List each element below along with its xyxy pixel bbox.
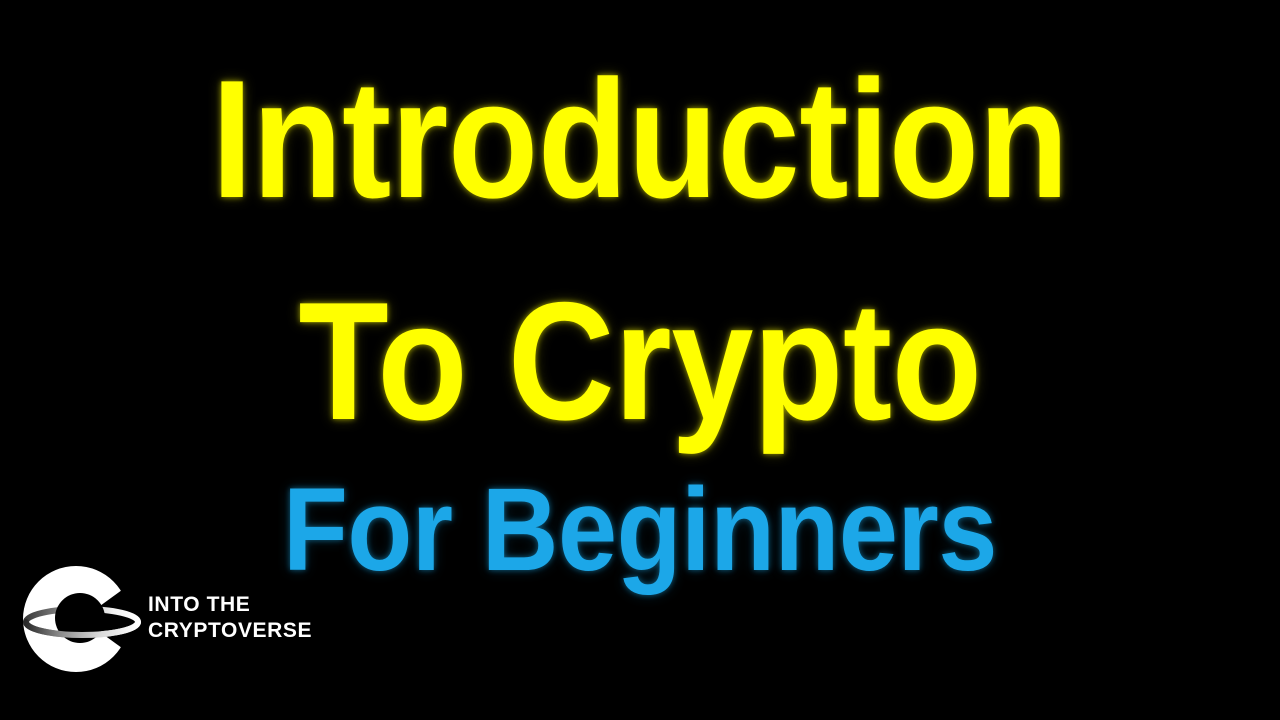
planet-c-logo-icon xyxy=(20,556,144,682)
video-title-card: Introduction To Crypto For Beginners xyxy=(0,0,1280,720)
brand-logo: INTO THE CRYPTOVERSE xyxy=(20,556,360,688)
brand-logo-wordmark: INTO THE CRYPTOVERSE xyxy=(148,592,312,644)
title-line-1: Introduction xyxy=(77,55,1203,223)
title-block: Introduction To Crypto For Beginners xyxy=(0,0,1280,600)
brand-logo-wordmark-line-2: CRYPTOVERSE xyxy=(148,618,312,644)
brand-logo-wordmark-line-1: INTO THE xyxy=(148,592,312,618)
title-line-2: To Crypto xyxy=(77,277,1203,445)
